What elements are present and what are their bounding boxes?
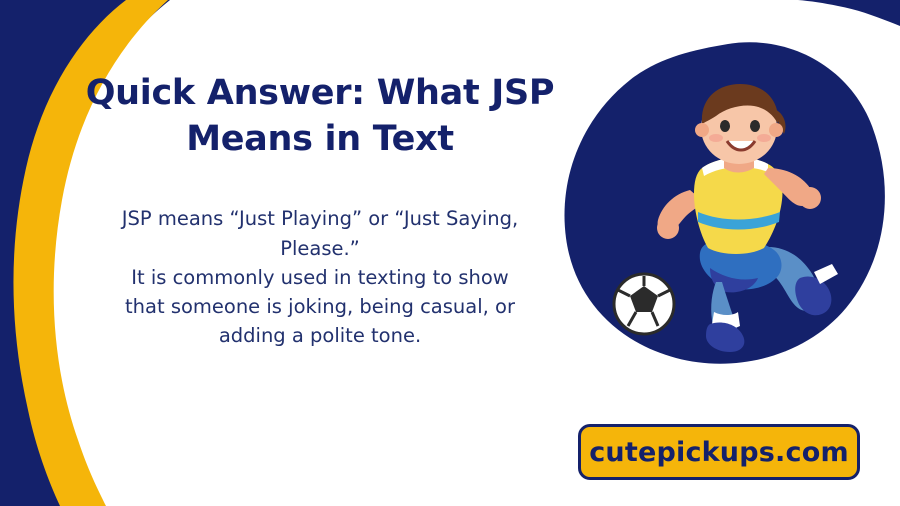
body-line-4: that someone is joking, being casual, or xyxy=(60,292,580,321)
site-logo-badge[interactable]: cutepickups.com xyxy=(578,424,860,480)
body-line-2: Please.” xyxy=(60,234,580,263)
illustration-area xyxy=(560,40,890,370)
graphic-card: Quick Answer: What JSP Means in Text JSP… xyxy=(0,0,900,506)
text-column: Quick Answer: What JSP Means in Text JSP… xyxy=(60,70,580,351)
navy-wedge-top-right xyxy=(798,0,900,26)
site-logo-text: cutepickups.com xyxy=(589,437,849,468)
boy-playing-soccer-icon xyxy=(582,72,872,352)
body-line-3: It is commonly used in texting to show xyxy=(60,263,580,292)
body-line-1: JSP means “Just Playing” or “Just Saying… xyxy=(60,204,580,233)
body-text: JSP means “Just Playing” or “Just Saying… xyxy=(60,162,580,350)
page-title: Quick Answer: What JSP Means in Text xyxy=(60,70,580,162)
headline-line-2: Means in Text xyxy=(186,119,454,159)
body-line-5: adding a polite tone. xyxy=(60,321,580,350)
headline-line-1: Quick Answer: What JSP xyxy=(86,73,555,113)
